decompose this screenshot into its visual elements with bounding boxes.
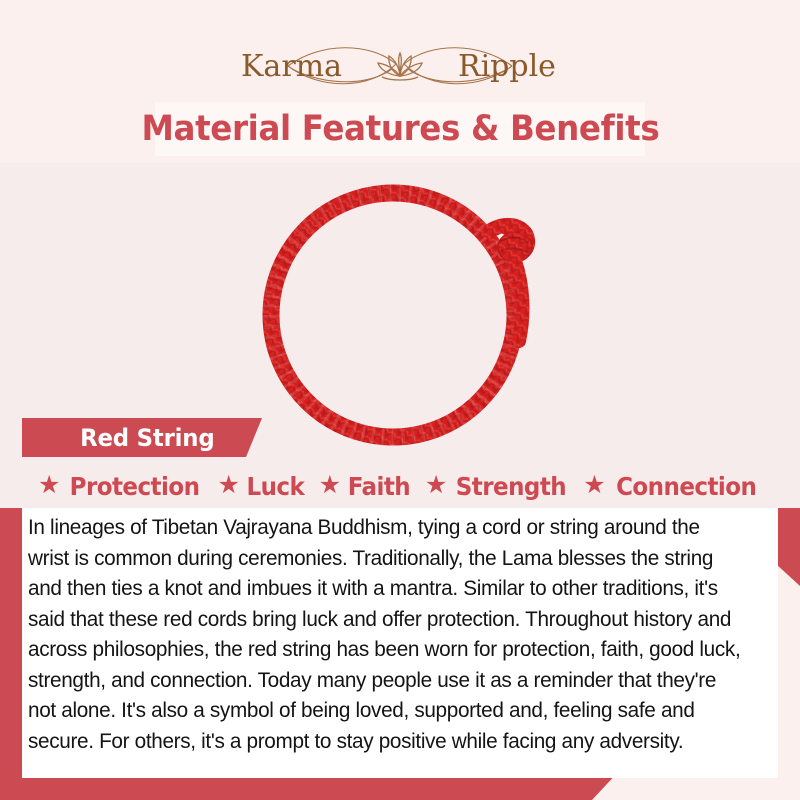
benefits-list: ★ Protection ★ Luck ★ Faith ★ Strength ★… bbox=[0, 466, 800, 506]
red-string-bracelet-image bbox=[243, 173, 557, 448]
brand-name-left: Karma bbox=[241, 49, 342, 84]
description-panel: In lineages of Tibetan Vajrayana Buddhis… bbox=[22, 508, 778, 778]
benefit-item-strength: ★ Strength bbox=[420, 472, 576, 501]
description-text: In lineages of Tibetan Vajrayana Buddhis… bbox=[28, 512, 746, 756]
page-title-banner: Material Features & Benefits bbox=[155, 102, 645, 156]
brand-logo: Karma Ripple bbox=[0, 36, 800, 94]
page-title: Material Features & Benefits bbox=[141, 109, 659, 149]
material-name-label: Red String bbox=[27, 424, 215, 452]
star-icon: ★ bbox=[217, 473, 239, 498]
star-icon: ★ bbox=[583, 473, 605, 498]
star-icon: ★ bbox=[319, 473, 341, 498]
benefit-label: Faith bbox=[348, 472, 410, 501]
benefit-label: Luck bbox=[246, 472, 304, 501]
benefit-item-faith: ★ Faith bbox=[314, 472, 418, 501]
header: Karma Ripple Material Features & Benefit… bbox=[0, 0, 800, 163]
star-icon: ★ bbox=[38, 473, 60, 498]
benefit-label: Protection bbox=[70, 472, 200, 501]
benefit-item-connection: ★ Connection bbox=[578, 472, 767, 501]
star-icon: ★ bbox=[425, 473, 447, 498]
material-name-banner: Red String bbox=[22, 418, 262, 457]
benefit-label: Strength bbox=[456, 472, 566, 501]
benefit-item-luck: ★ Luck bbox=[212, 472, 311, 501]
brand-name-right: Ripple bbox=[458, 49, 556, 84]
infographic-page: Karma Ripple Material Features & Benefit… bbox=[0, 0, 800, 800]
benefit-item-protection: ★ Protection bbox=[33, 472, 210, 501]
benefit-label: Connection bbox=[616, 472, 756, 501]
